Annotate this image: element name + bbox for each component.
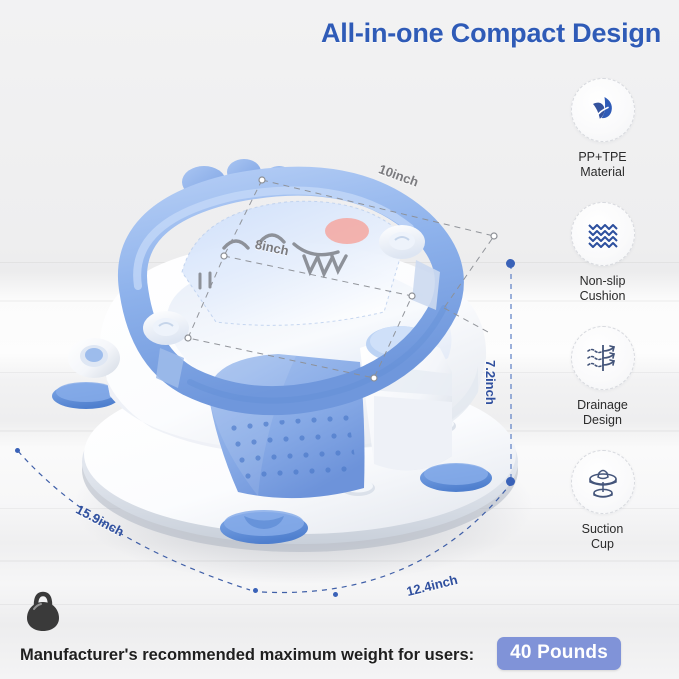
feature-list: PP+TPE Material Non-slip Cushion xyxy=(540,78,665,560)
leaf-icon xyxy=(586,93,620,127)
feature-label-line1: Suction xyxy=(540,522,665,537)
suction-cup-icon xyxy=(584,465,622,499)
infographic-canvas: All-in-one Compact Design xyxy=(0,0,679,679)
cheek xyxy=(325,218,369,244)
dimension-label-7-2inch: 7.2inch xyxy=(483,360,498,405)
product-illustration xyxy=(48,96,548,596)
feature-pp-tpe-material[interactable]: PP+TPE Material xyxy=(540,78,665,180)
feature-label-line2: Material xyxy=(540,165,665,180)
feature-label: PP+TPE Material xyxy=(540,150,665,180)
page-title: All-in-one Compact Design xyxy=(0,18,661,49)
feature-drainage-design[interactable]: Drainage Design xyxy=(540,326,665,428)
max-weight-badge: 40 Pounds xyxy=(497,637,621,670)
feature-label: Non-slip Cushion xyxy=(540,274,665,304)
feature-label: Drainage Design xyxy=(540,398,665,428)
ring-knob-left xyxy=(143,311,189,345)
feature-label-line1: Non-slip xyxy=(540,274,665,289)
feature-icon-wrap xyxy=(571,450,635,514)
ring-knob-right xyxy=(379,225,425,259)
drainage-icon xyxy=(585,342,621,374)
max-weight-text: Manufacturer's recommended maximum weigh… xyxy=(20,646,474,665)
feature-icon-wrap xyxy=(571,78,635,142)
side-knob-left xyxy=(68,338,120,378)
feature-label: Suction Cup xyxy=(540,522,665,552)
footer-bar: Manufacturer's recommended maximum weigh… xyxy=(0,593,679,679)
dimension-dot-bottom xyxy=(506,477,515,486)
suction-cup-right xyxy=(420,463,492,492)
feature-non-slip-cushion[interactable]: Non-slip Cushion xyxy=(540,202,665,304)
feature-suction-cup[interactable]: Suction Cup xyxy=(540,450,665,552)
waves-icon xyxy=(585,219,621,249)
feature-label-line2: Cup xyxy=(540,537,665,552)
feature-icon-wrap xyxy=(571,202,635,266)
feature-label-line2: Design xyxy=(540,413,665,428)
dimension-dot-left xyxy=(15,448,20,453)
feature-label-line1: Drainage xyxy=(540,398,665,413)
dimension-dot-top xyxy=(506,259,515,268)
suction-cup-front xyxy=(220,510,308,544)
feature-label-line1: PP+TPE xyxy=(540,150,665,165)
kettlebell-icon xyxy=(20,589,66,635)
feature-label-line2: Cushion xyxy=(540,289,665,304)
feature-icon-wrap xyxy=(571,326,635,390)
